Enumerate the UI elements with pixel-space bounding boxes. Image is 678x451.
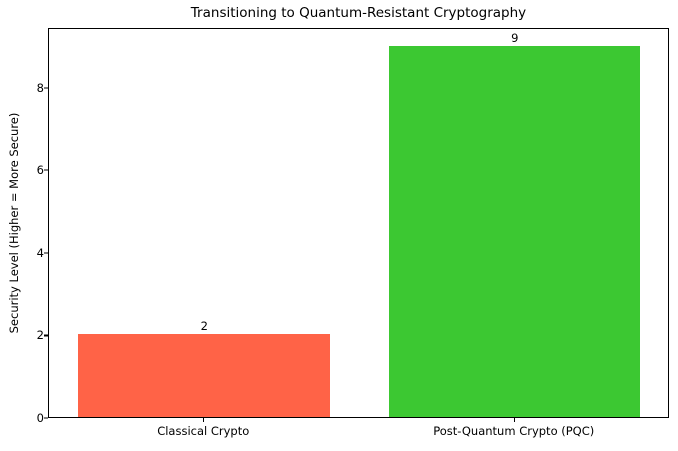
y-tick-label: 6 (4, 164, 44, 176)
bar[interactable] (389, 46, 641, 417)
plot-area: 29 (48, 28, 669, 418)
bar[interactable] (78, 334, 330, 417)
y-tick-label: 4 (4, 247, 44, 259)
chart-figure: Transitioning to Quantum-Resistant Crypt… (0, 0, 678, 451)
x-tick-label: Post-Quantum Crypto (PQC) (433, 424, 594, 439)
x-tick-mark (203, 418, 204, 422)
x-tick-mark (514, 418, 515, 422)
bars-layer: 29 (49, 29, 668, 417)
bar-value-label: 9 (389, 32, 641, 45)
x-tick-label: Classical Crypto (157, 424, 249, 439)
chart-title: Transitioning to Quantum-Resistant Crypt… (48, 4, 669, 22)
y-tick-label: 2 (4, 329, 44, 341)
y-tick-label: 8 (4, 82, 44, 94)
y-tick-label: 0 (4, 412, 44, 424)
bar-value-label: 2 (78, 320, 330, 333)
